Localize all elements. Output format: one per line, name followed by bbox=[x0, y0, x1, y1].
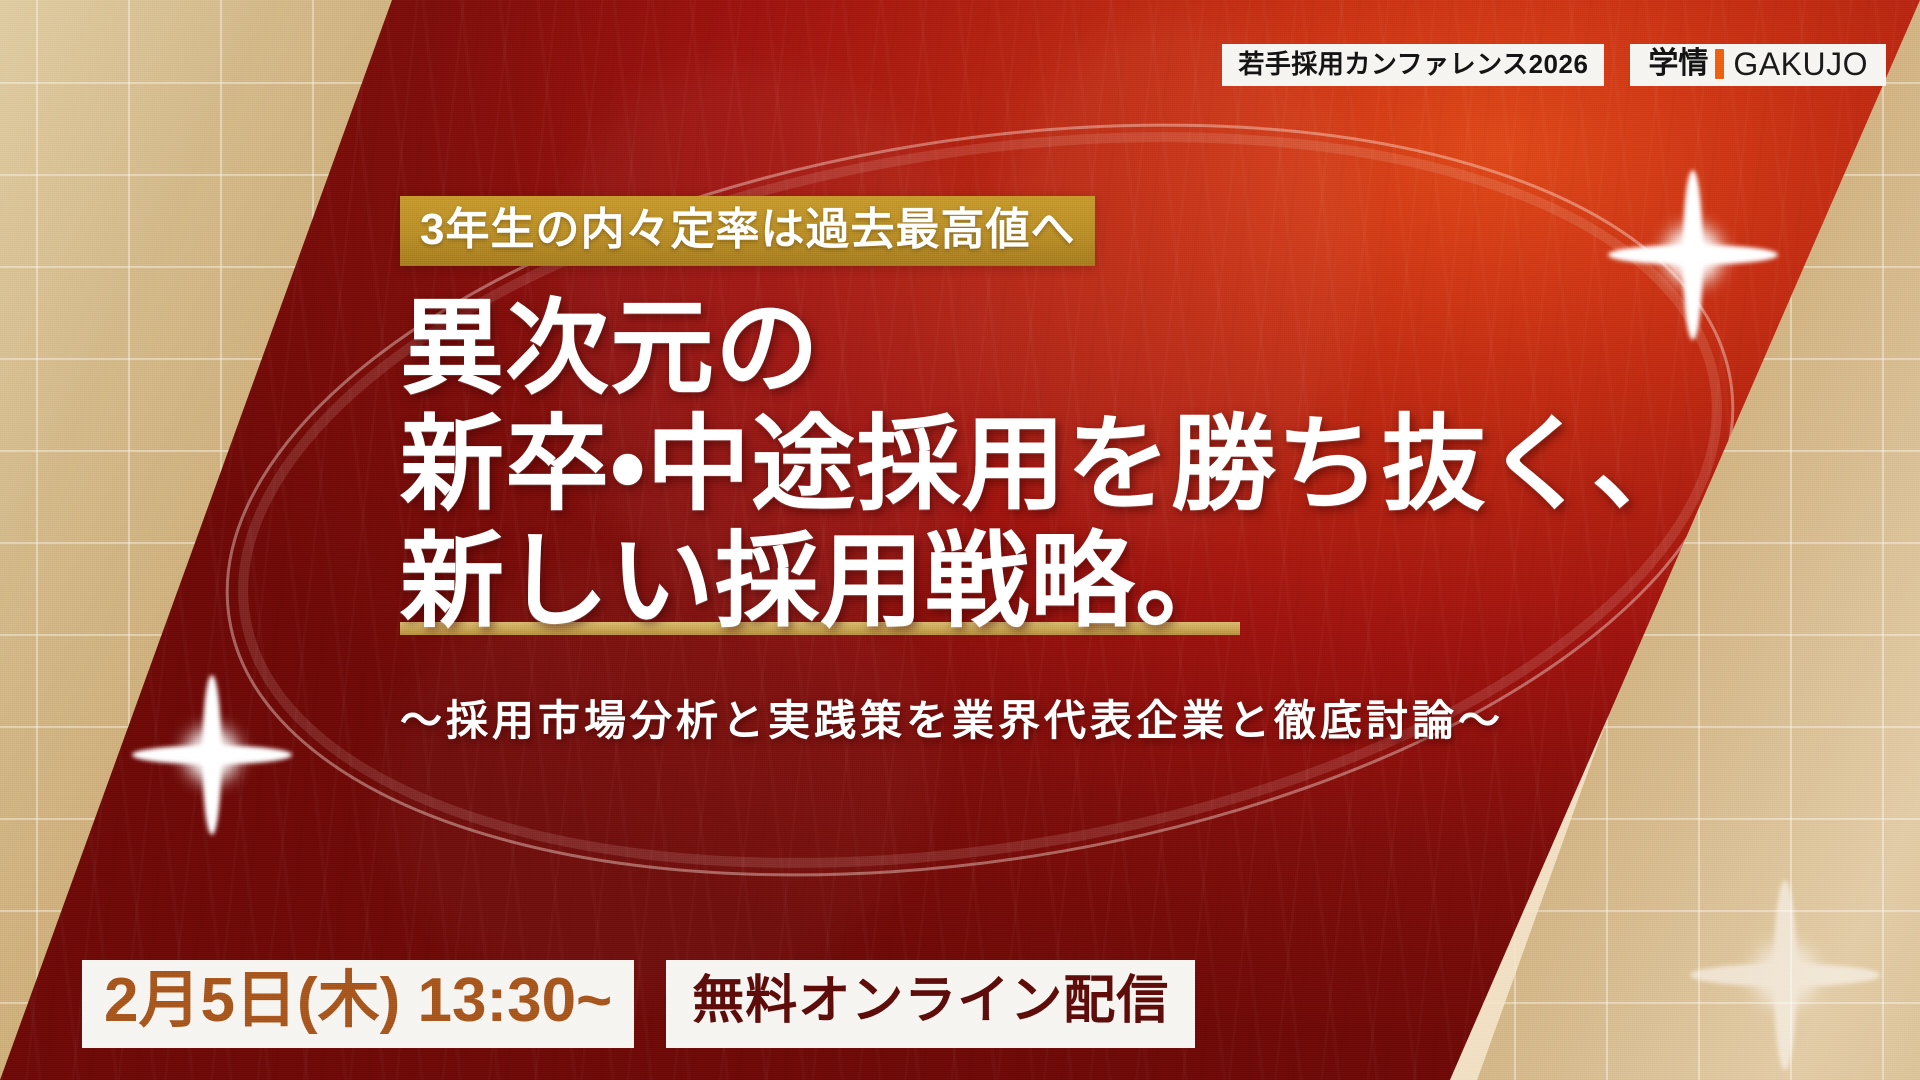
footer-info-row: 2月5日(木) 13:30~ 無料オンライン配信 bbox=[82, 960, 1195, 1048]
subtitle: 〜採用市場分析と実践策を業界代表企業と徹底討論〜 bbox=[400, 687, 1600, 748]
badge-row: 若手採用カンファレンス2026 学情 GAKUJO bbox=[1222, 44, 1886, 86]
headline-line-3: 新しい採用戦略。 bbox=[400, 525, 1240, 640]
free-stream-badge: 無料オンライン配信 bbox=[666, 960, 1195, 1048]
eyebrow-label: 3年生の内々定率は過去最高値へ bbox=[400, 196, 1095, 266]
logo-japanese-text: 学情 bbox=[1648, 49, 1708, 79]
page-title: 異次元の 新卒・中途採用を勝ち抜く、 新しい採用戦略。 bbox=[400, 292, 1600, 641]
headline-line-1: 異次元の bbox=[400, 292, 1600, 408]
free-stream-text: 無料オンライン配信 bbox=[692, 975, 1169, 1027]
conference-name-text: 若手採用カンファレンス2026 bbox=[1238, 51, 1588, 77]
logo-english-text: GAKUJO bbox=[1733, 48, 1868, 80]
banner-canvas: 若手採用カンファレンス2026 学情 GAKUJO 3年生の内々定率は過去最高値… bbox=[0, 0, 1920, 1080]
main-copy-block: 3年生の内々定率は過去最高値へ 異次元の 新卒・中途採用を勝ち抜く、 新しい採用… bbox=[400, 196, 1600, 748]
gakujo-logo-badge: 学情 GAKUJO bbox=[1630, 44, 1886, 86]
headline-line-3-wrap: 新しい採用戦略。 bbox=[400, 525, 1240, 641]
logo-accent-bar-icon bbox=[1715, 49, 1724, 79]
conference-name-badge: 若手採用カンファレンス2026 bbox=[1222, 44, 1604, 86]
event-date-box: 2月5日(木) 13:30~ bbox=[82, 960, 634, 1048]
event-date-text: 2月5日(木) 13:30~ bbox=[104, 970, 612, 1032]
headline-line-2: 新卒・中途採用を勝ち抜く、 bbox=[400, 408, 1600, 524]
